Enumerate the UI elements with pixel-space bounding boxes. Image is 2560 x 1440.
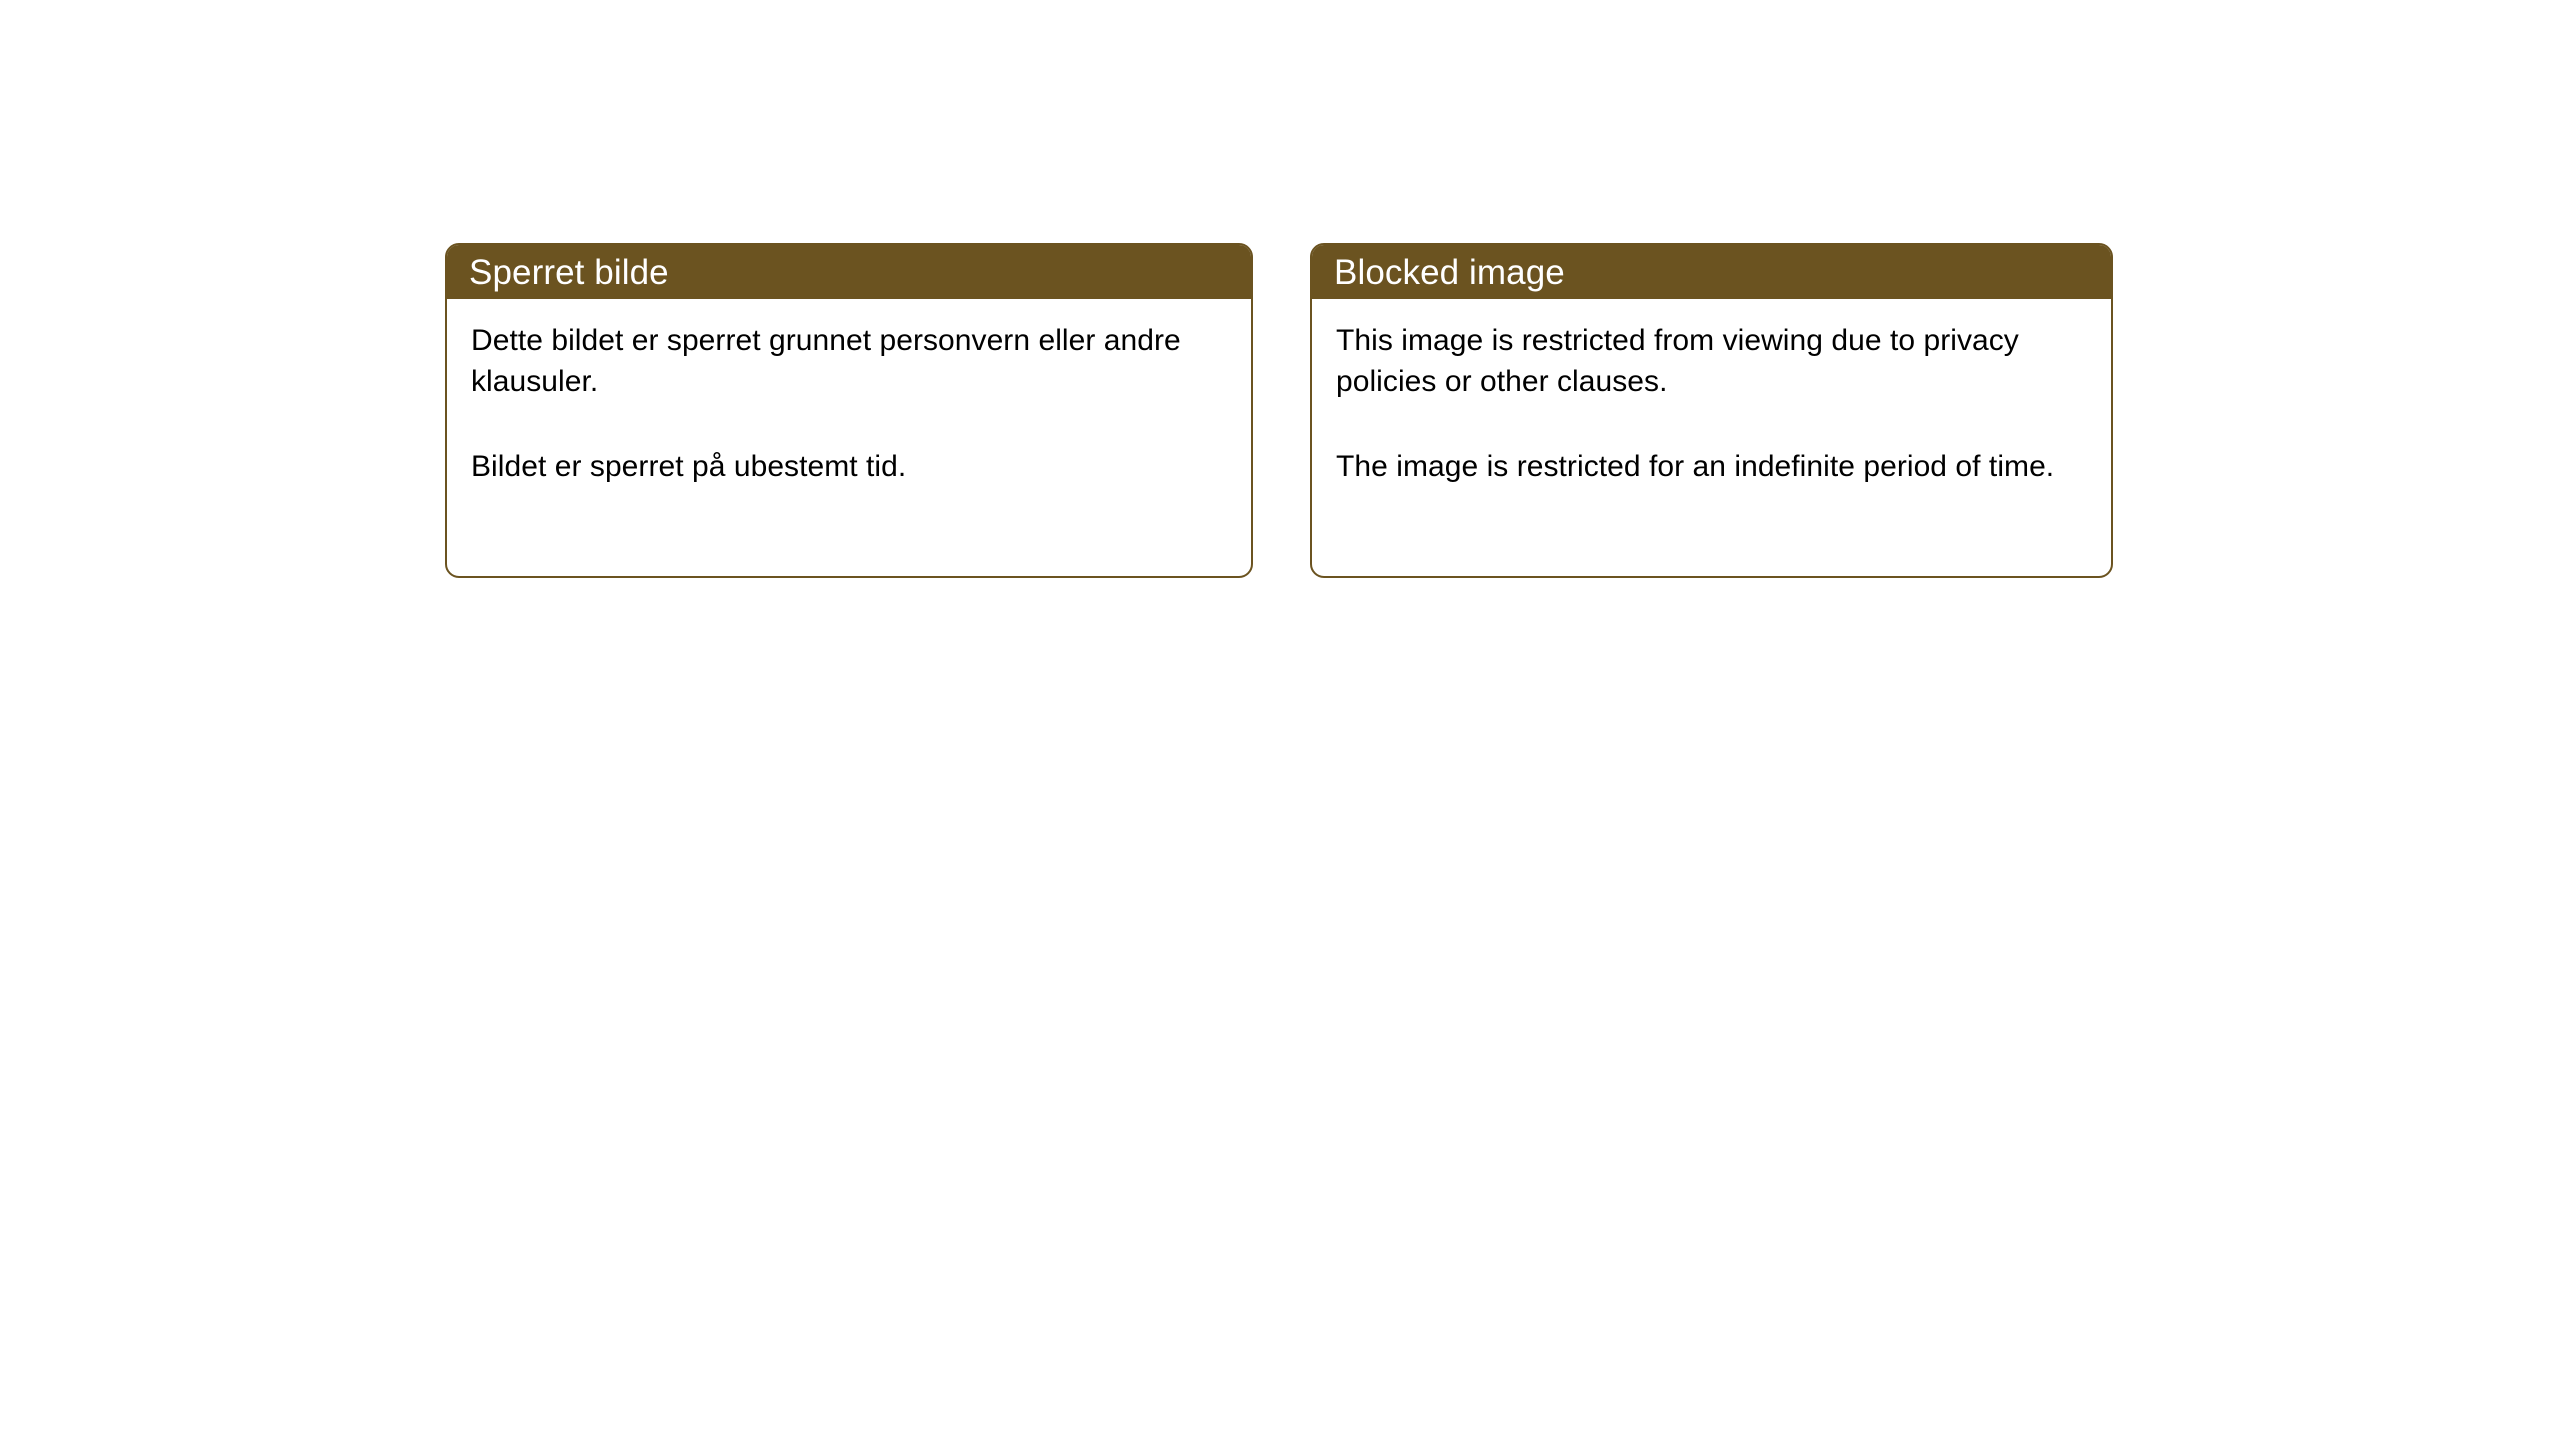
blocked-image-notice-card-english: Blocked image This image is restricted f…: [1310, 243, 2113, 578]
card-paragraph-reason-norwegian: Dette bildet er sperret grunnet personve…: [471, 321, 1225, 403]
card-title-norwegian: Sperret bilde: [469, 255, 669, 290]
page-root: Sperret bilde Dette bildet er sperret gr…: [0, 0, 2560, 1440]
card-header-norwegian: Sperret bilde: [447, 245, 1251, 299]
card-body-english: This image is restricted from viewing du…: [1312, 299, 2111, 487]
card-paragraph-reason-english: This image is restricted from viewing du…: [1336, 321, 2085, 403]
card-paragraph-duration-norwegian: Bildet er sperret på ubestemt tid.: [471, 447, 1225, 488]
card-body-norwegian: Dette bildet er sperret grunnet personve…: [447, 299, 1251, 487]
card-paragraph-duration-english: The image is restricted for an indefinit…: [1336, 447, 2085, 488]
blocked-image-notice-card-norwegian: Sperret bilde Dette bildet er sperret gr…: [445, 243, 1253, 578]
card-header-english: Blocked image: [1312, 245, 2111, 299]
card-title-english: Blocked image: [1334, 255, 1565, 290]
